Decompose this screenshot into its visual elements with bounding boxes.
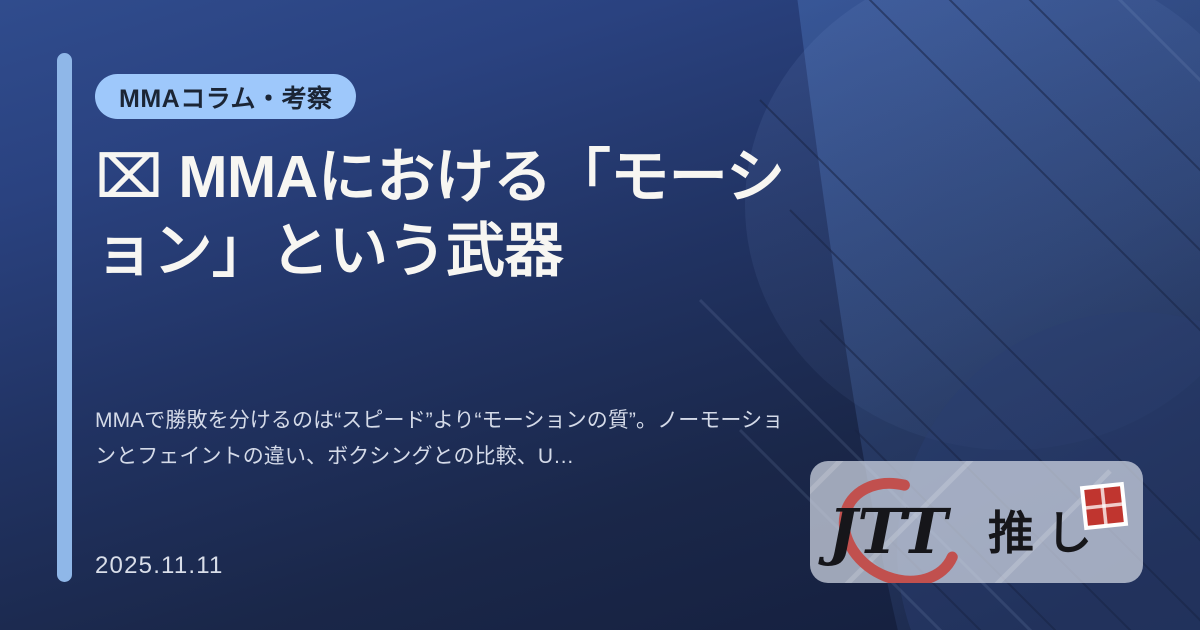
page-title: ⌧ MMAにおける「モーション」という武器: [95, 140, 807, 289]
ellipse-decoration-top: [745, 0, 1200, 450]
og-image-card: MMAコラム・考察 ⌧ MMAにおける「モーション」という武器 MMAで勝敗を分…: [0, 0, 1200, 630]
site-logo-graphic: JTT 推し: [810, 461, 1143, 583]
red-square-icon: [1082, 484, 1126, 528]
article-description: MMAで勝敗を分けるのは“スピード”より“モーションの質”。ノーモーションとフェ…: [95, 403, 785, 475]
category-badge[interactable]: MMAコラム・考察: [95, 74, 356, 119]
left-accent-bar: [57, 53, 72, 582]
site-logo-card[interactable]: JTT 推し: [810, 461, 1143, 583]
content-column: MMAコラム・考察 ⌧ MMAにおける「モーション」という武器 MMAで勝敗を分…: [95, 0, 795, 630]
publish-date: 2025.11.11: [95, 552, 224, 580]
logo-latin-text: JTT: [818, 495, 951, 568]
